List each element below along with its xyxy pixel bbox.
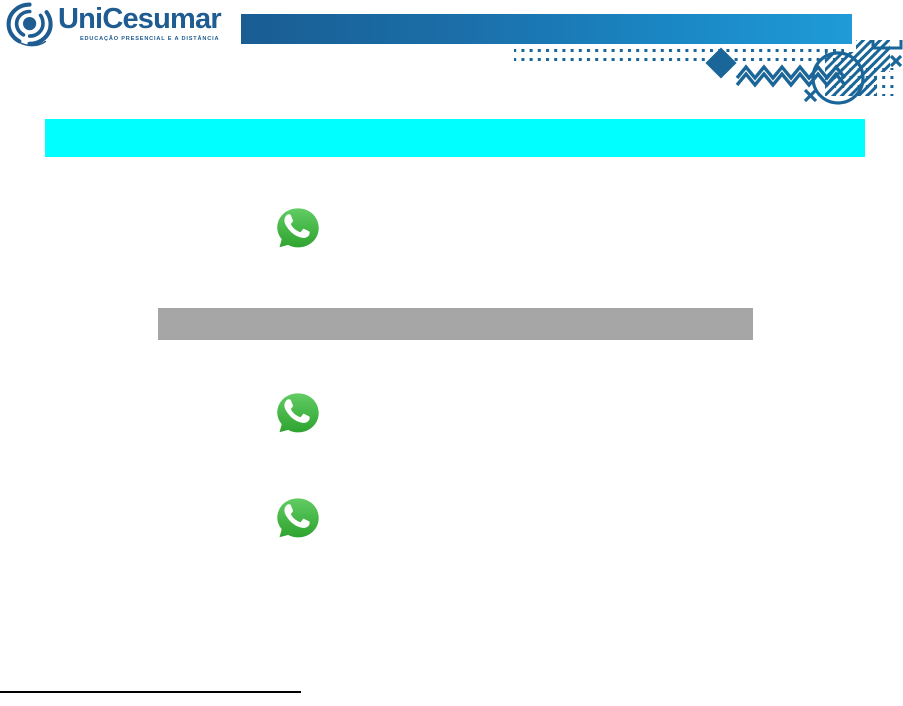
whatsapp-icon[interactable] xyxy=(270,386,326,442)
svg-text:UniCesumar: UniCesumar xyxy=(58,3,221,35)
footnote-separator-rule xyxy=(0,691,301,693)
letterhead: UniCesumar EDUCAÇÃO PRESENCIAL E A DISTÂ… xyxy=(0,0,903,110)
whatsapp-icon[interactable] xyxy=(270,491,326,547)
whatsapp-icon[interactable] xyxy=(270,201,326,257)
geometric-decoration xyxy=(505,40,903,110)
document-page: UniCesumar EDUCAÇÃO PRESENCIAL E A DISTÂ… xyxy=(0,0,903,706)
unicesumar-circular-c-mark xyxy=(6,2,54,48)
cyan-highlight-bar xyxy=(45,119,865,157)
gray-highlight-bar xyxy=(158,308,753,340)
unicesumar-wordmark: UniCesumar xyxy=(58,3,241,35)
logo-tagline: EDUCAÇÃO PRESENCIAL E A DISTÂNCIA xyxy=(80,36,242,42)
unicesumar-logo: UniCesumar EDUCAÇÃO PRESENCIAL E A DISTÂ… xyxy=(6,2,241,50)
